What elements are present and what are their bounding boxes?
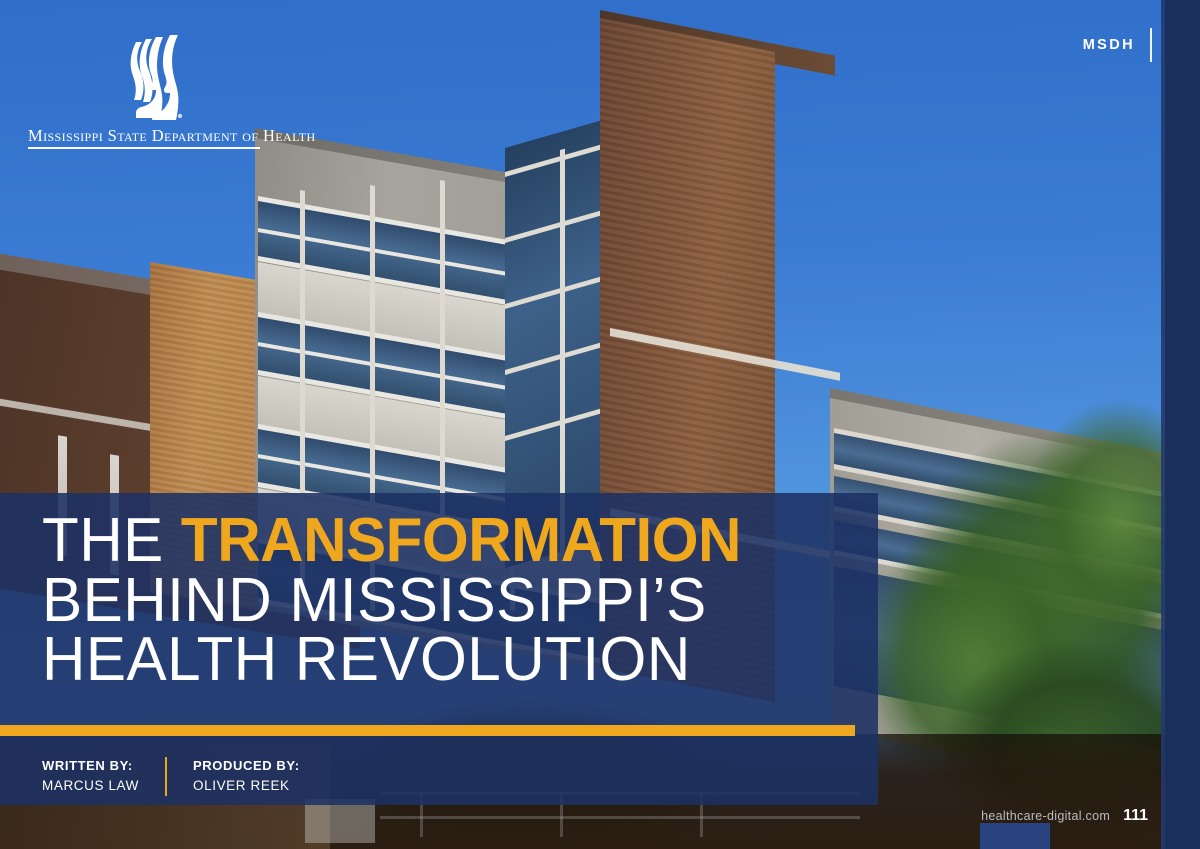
- title-gold-rule: [0, 725, 855, 736]
- credit-written-by: WRITTEN BY: MARCUS LAW: [42, 756, 139, 797]
- credit-role-label: PRODUCED BY:: [193, 756, 300, 776]
- credits-divider: [165, 757, 167, 796]
- footer-website: healthcare-digital.com: [981, 809, 1110, 823]
- credit-role-label: WRITTEN BY:: [42, 756, 139, 776]
- credit-person-name: OLIVER REEK: [193, 776, 300, 797]
- credits: WRITTEN BY: MARCUS LAW PRODUCED BY: OLIV…: [42, 756, 300, 797]
- msdh-profiles-logo-icon: [120, 32, 192, 122]
- page-title: THE TRANSFORMATION BEHIND MISSISSIPPI’S …: [42, 511, 878, 690]
- title-overlay-block: THE TRANSFORMATION BEHIND MISSISSIPPI’S …: [0, 493, 878, 805]
- eyebrow-label: MSDH: [1083, 37, 1135, 53]
- page-footer: healthcare-digital.com 111: [981, 807, 1148, 825]
- foreground-railing: [380, 816, 860, 819]
- magazine-feature-page: Mississippi State Department of Health M…: [0, 0, 1200, 849]
- headline-line-3: HEALTH REVOLUTION: [42, 630, 853, 690]
- page-right-spine: [1165, 0, 1200, 849]
- msdh-logo-wordmark: Mississippi State Department of Health: [28, 126, 278, 146]
- credit-person-name: MARCUS LAW: [42, 776, 139, 797]
- headline-line-2: BEHIND MISSISSIPPI’S: [42, 571, 853, 631]
- title-content: THE TRANSFORMATION BEHIND MISSISSIPPI’S …: [0, 493, 878, 690]
- msdh-logo-underline: [28, 147, 260, 149]
- foreground-sign: [305, 799, 375, 843]
- credit-produced-by: PRODUCED BY: OLIVER REEK: [193, 756, 300, 797]
- footer-page-number: 111: [1123, 807, 1148, 825]
- foreground-blue-object: [980, 823, 1050, 849]
- eyebrow: MSDH: [1083, 28, 1152, 62]
- msdh-logo: Mississippi State Department of Health: [28, 32, 278, 149]
- eyebrow-divider: [1150, 28, 1152, 62]
- headline-line-1: THE TRANSFORMATION: [42, 511, 853, 571]
